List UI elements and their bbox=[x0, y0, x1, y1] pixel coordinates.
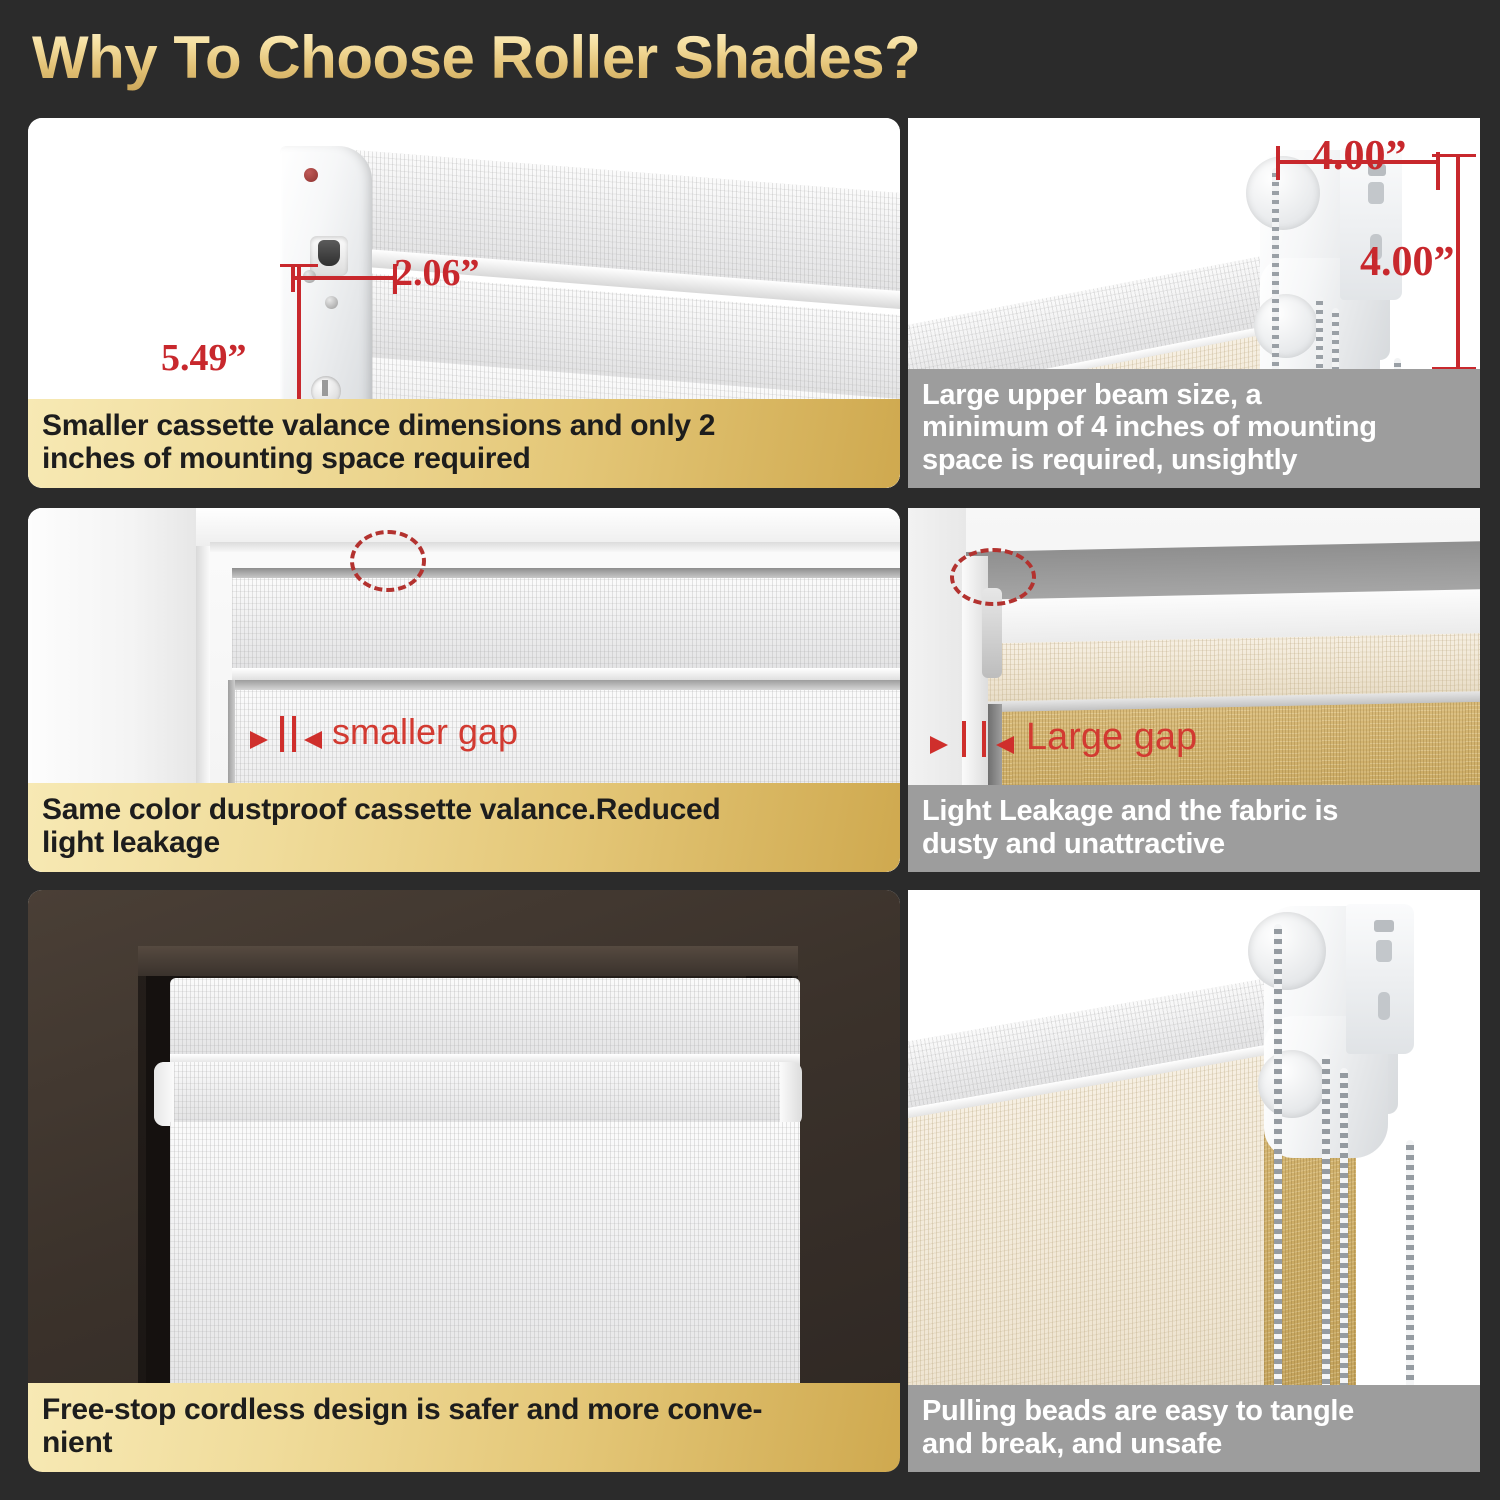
panel-dustproof-cassette: smaller gap Same color dustproof cassett… bbox=[28, 508, 900, 872]
smaller-gap-label: smaller gap bbox=[332, 711, 518, 753]
width-dimension-label: 2.06” bbox=[394, 251, 480, 295]
height-dimension-label: 5.49” bbox=[161, 336, 247, 380]
gap-highlight-circle bbox=[950, 548, 1036, 606]
caption-pulling-beads: Pulling beads are easy to tangle and bre… bbox=[908, 1385, 1480, 1472]
panel-light-leakage: Large gap Light Leakage and the fabric i… bbox=[908, 508, 1480, 872]
gap-arrow-right bbox=[996, 736, 1014, 754]
infographic-root: Why To Choose Roller Shades? bbox=[0, 0, 1500, 1500]
page-title: Why To Choose Roller Shades? bbox=[32, 22, 1132, 94]
beam-height-label: 4.00” bbox=[1360, 238, 1455, 286]
caption-cassette-valance: Smaller cassette valance dimensions and … bbox=[28, 399, 900, 488]
panel-cordless-design: Free-stop cordless design is safer and m… bbox=[28, 890, 900, 1472]
gap-arrow-left bbox=[930, 736, 948, 754]
beam-width-label: 4.00” bbox=[1312, 132, 1407, 180]
large-gap-label: Large gap bbox=[1026, 716, 1197, 759]
gap-arrow-right bbox=[304, 731, 322, 749]
gap-arrow-left bbox=[250, 731, 268, 749]
panel-pulling-beads: Pulling beads are easy to tangle and bre… bbox=[908, 890, 1480, 1472]
caption-large-upper-beam: Large upper beam size, a minimum of 4 in… bbox=[908, 369, 1480, 488]
panel-cassette-valance: 2.06” 5.49” Smaller cassette valance dim… bbox=[28, 118, 900, 488]
caption-light-leakage: Light Leakage and the fabric is dusty an… bbox=[908, 785, 1480, 872]
panel-large-upper-beam: 4.00” 4.00” Large upper beam size, a min… bbox=[908, 118, 1480, 488]
caption-cordless-design: Free-stop cordless design is safer and m… bbox=[28, 1383, 900, 1472]
caption-dustproof-cassette: Same color dustproof cassette valance.Re… bbox=[28, 783, 900, 872]
